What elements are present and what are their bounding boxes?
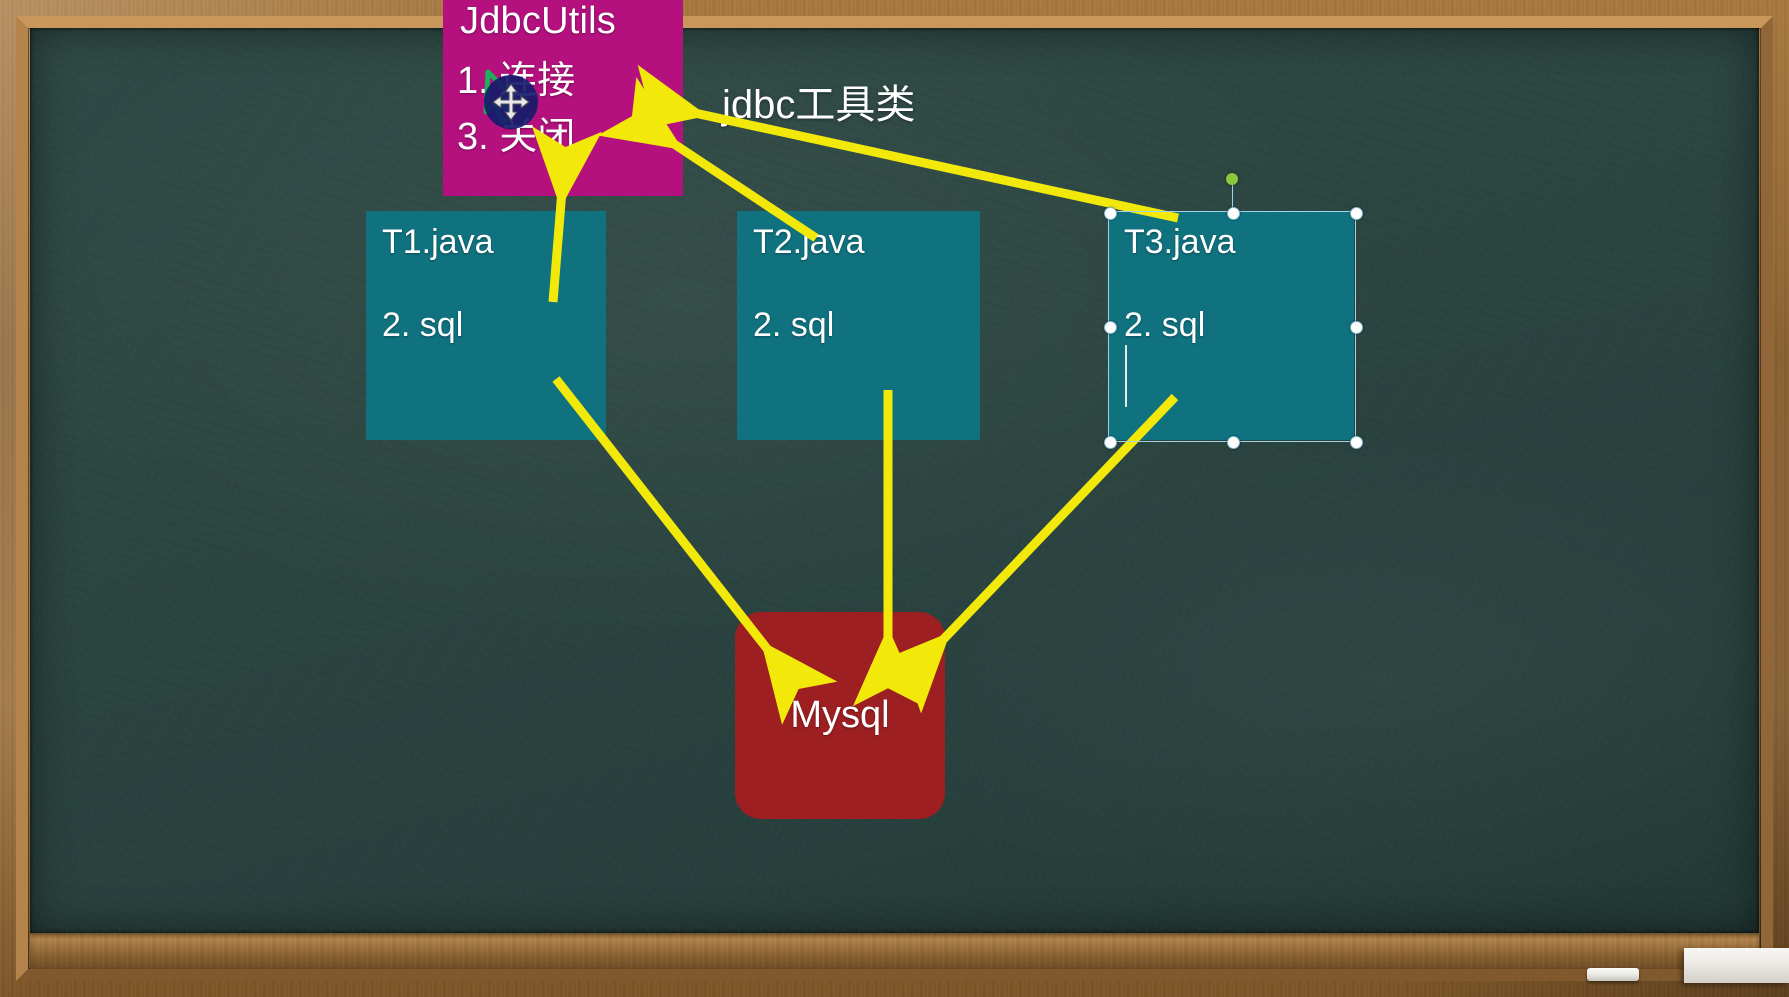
shape-jdbcutils[interactable]: JdbcUtils 1. 连接 3. 关闭 bbox=[443, 0, 683, 196]
shape-mysql[interactable]: Mysql bbox=[735, 612, 945, 819]
jdbcutils-title: JdbcUtils bbox=[460, 0, 616, 43]
shape-t3-java[interactable]: T3.java 2. sql bbox=[1108, 211, 1354, 440]
annotation-jdbc-utility-class: jdbc工具类 bbox=[722, 72, 915, 130]
t2-java-title: T2.java bbox=[753, 223, 865, 262]
t3-java-title: T3.java bbox=[1124, 223, 1236, 262]
move-arrows-glyph bbox=[484, 75, 538, 129]
shape-t2-java[interactable]: T2.java 2. sql bbox=[737, 211, 980, 440]
t1-java-sql-step: 2. sql bbox=[382, 306, 463, 345]
shape-t1-java[interactable]: T1.java 2. sql bbox=[366, 211, 606, 440]
t2-java-sql-step: 2. sql bbox=[753, 306, 834, 345]
board-eraser-icon[interactable] bbox=[1684, 948, 1789, 983]
move-cursor-icon bbox=[484, 75, 538, 129]
text-caret bbox=[1125, 345, 1127, 407]
mysql-title: Mysql bbox=[735, 612, 945, 819]
t1-java-title: T1.java bbox=[382, 223, 494, 262]
chalk-stick-icon[interactable] bbox=[1587, 968, 1639, 981]
chalk-ledge bbox=[30, 933, 1759, 969]
t3-java-sql-step: 2. sql bbox=[1124, 306, 1205, 345]
screenshot-canvas: JdbcUtils 1. 连接 3. 关闭 T1.java 2. sql T2.… bbox=[0, 0, 1789, 997]
